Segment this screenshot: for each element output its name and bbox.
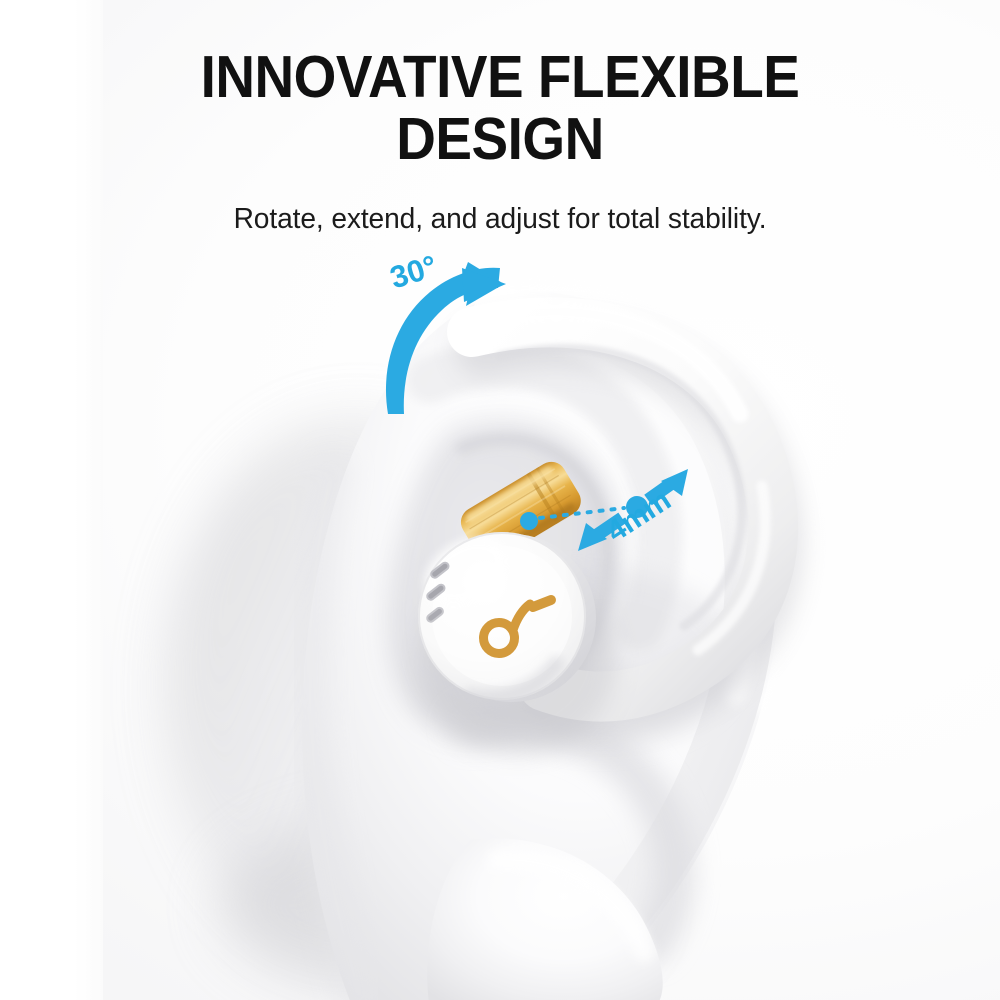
page-subheadline: Rotate, extend, and adjust for total sta… [15, 201, 985, 237]
product-marketing-image: INNOVATIVE FLEXIBLE DESIGN Rotate, exten… [0, 0, 1000, 1000]
page-headline: INNOVATIVE FLEXIBLE DESIGN [35, 46, 965, 170]
